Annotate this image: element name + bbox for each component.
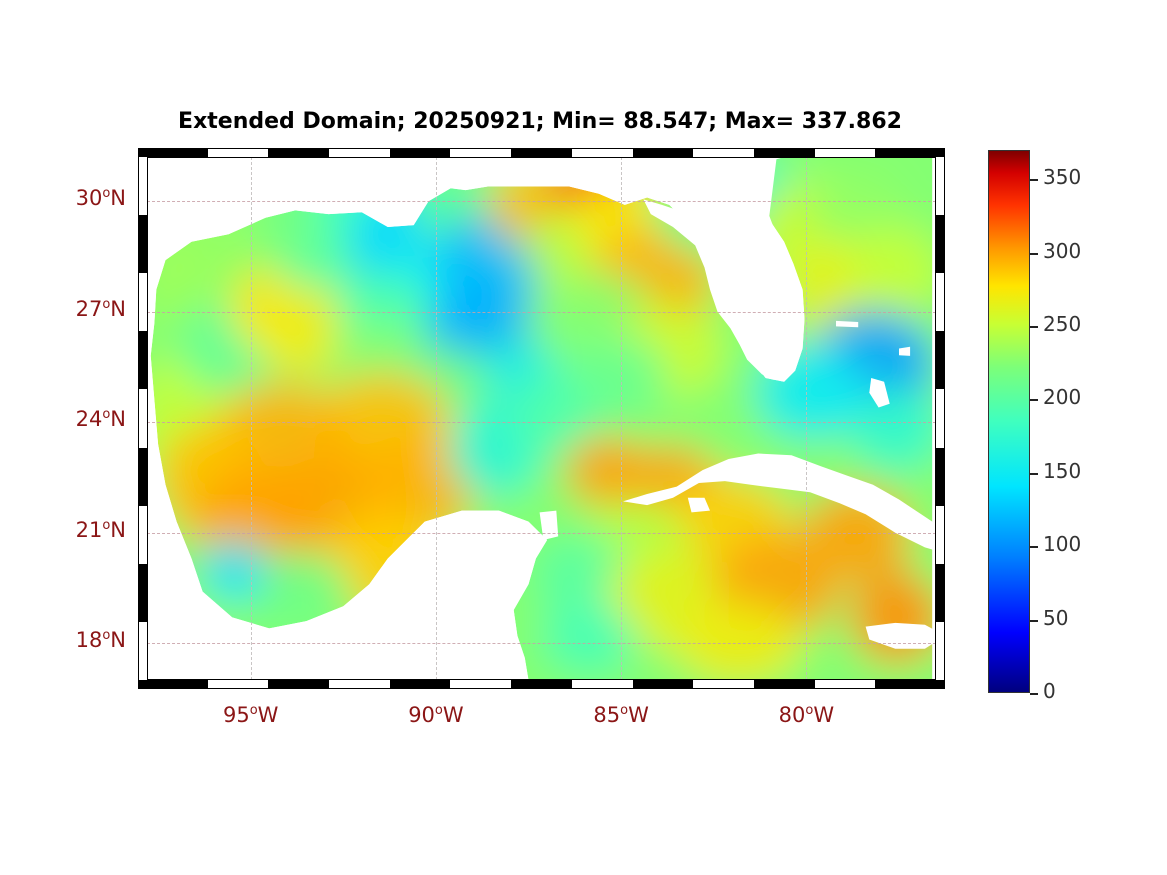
longitude-tick-label: 85oW [551,703,691,727]
border-outline [138,148,945,149]
border-segment [936,215,944,273]
border-segment [633,680,694,688]
border-segment [936,680,945,689]
colorbar-tick-label: 50 [1043,606,1068,630]
colorbar-tick-mark [1030,326,1038,328]
border-segment [139,331,147,389]
border-segment [138,680,147,689]
scalar-field-heatmap [147,157,936,680]
border-segment [147,149,208,157]
border-outline [138,148,139,689]
border-segment [754,680,815,688]
page-title: Extended Domain; 20250921; Min= 88.547; … [0,109,1080,134]
map-data-area[interactable] [147,157,936,680]
border-segment [268,149,329,157]
border-segment [390,149,451,157]
border-segment [936,564,944,622]
field-blob [573,335,668,419]
latitude-tick-label: 21oN [0,518,126,542]
figure-root: Extended Domain; 20250921; Min= 88.547; … [0,0,1167,875]
border-segment [875,680,936,688]
border-segment [139,564,147,622]
border-segment [268,680,329,688]
field-blob [202,539,265,602]
border-segment [633,149,694,157]
latitude-tick-label: 24oN [0,407,126,431]
colorbar-tick-mark [1030,179,1038,181]
colorbar-tick-label: 200 [1043,385,1081,409]
latitude-tick-label: 30oN [0,186,126,210]
border-segment [936,148,945,157]
border-segment [139,215,147,273]
border-segment [754,149,815,157]
colorbar-tick-label: 0 [1043,679,1056,703]
border-segment [511,680,572,688]
border-segment [875,149,936,157]
latitude-tick-label: 27oN [0,297,126,321]
border-outline [944,148,945,689]
map-axes[interactable] [138,148,945,689]
border-segment [147,680,208,688]
border-segment [138,148,147,157]
colorbar-tick-label: 100 [1043,532,1081,556]
colorbar-tick-label: 250 [1043,312,1081,336]
latitude-tick-label: 18oN [0,628,126,652]
colorbar-tick-mark [1030,693,1038,695]
colorbar[interactable] [988,150,1030,693]
field-blob [542,602,637,675]
longitude-tick-label: 90oW [366,703,506,727]
border-segment [390,680,451,688]
colorbar-tick-mark [1030,473,1038,475]
colorbar-tick-mark [1030,399,1038,401]
border-segment [139,448,147,506]
colorbar-tick-label: 350 [1043,165,1081,189]
border-segment [511,149,572,157]
border-outline [138,688,945,689]
colorbar-tick-mark [1030,253,1038,255]
colorbar-gradient [989,151,1029,692]
land-bahamas-1 [836,321,858,327]
colorbar-tick-label: 300 [1043,239,1081,263]
longitude-tick-label: 95oW [181,703,321,727]
colorbar-tick-mark [1030,620,1038,622]
colorbar-tick-label: 150 [1043,459,1081,483]
longitude-tick-label: 80oW [736,703,876,727]
border-segment [936,331,944,389]
border-segment [936,448,944,506]
colorbar-tick-mark [1030,546,1038,548]
